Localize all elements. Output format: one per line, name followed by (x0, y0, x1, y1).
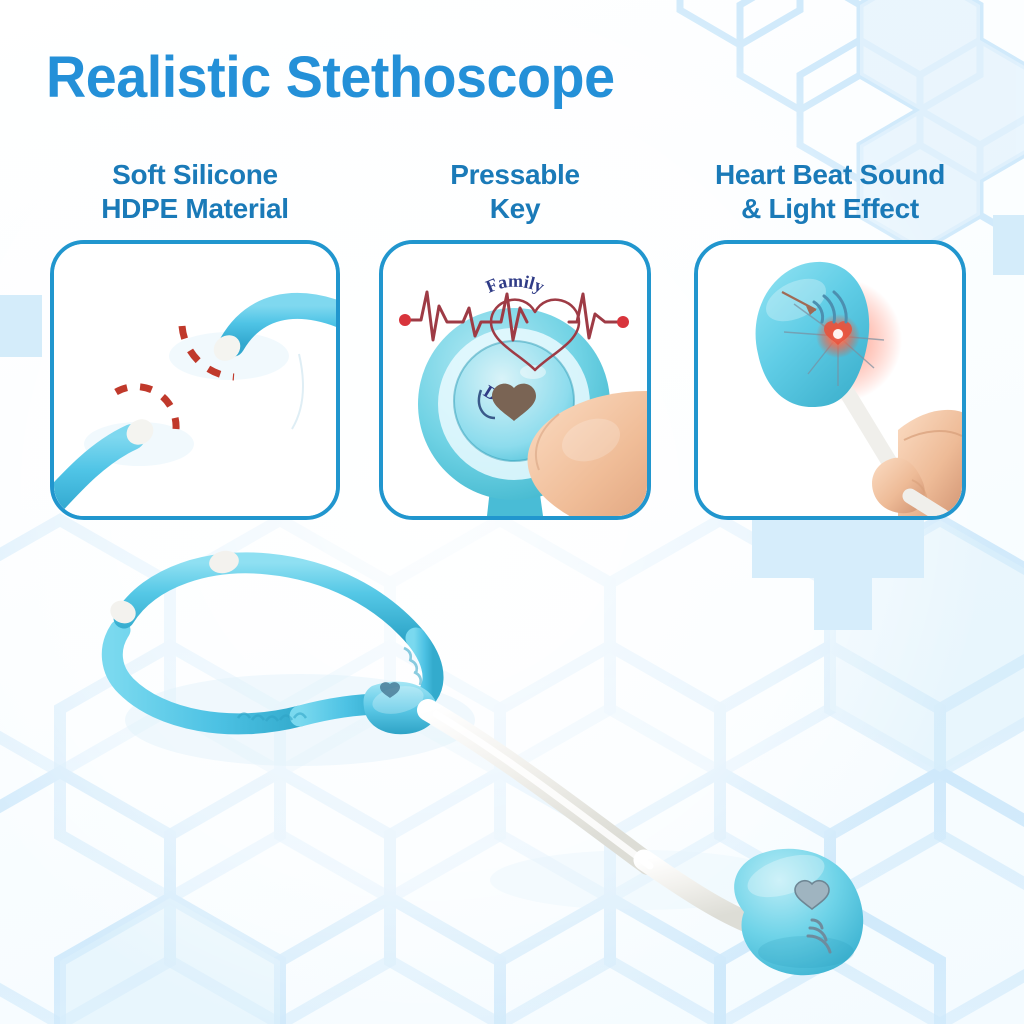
page-title: Realistic Stethoscope (46, 44, 615, 111)
feature-caption-pressable-key: Pressable Key (360, 158, 670, 226)
infographic-page: Realistic Stethoscope Soft Silicone HDPE… (0, 0, 1024, 1024)
caption-line: HDPE Material (40, 192, 350, 226)
headset-top-arch (124, 563, 416, 638)
caption-line: & Light Effect (675, 192, 985, 226)
feature-caption-soft-silicone: Soft Silicone HDPE Material (40, 158, 350, 226)
silicone-tubes-illustration (54, 244, 336, 516)
feature-pressable-key: Pressable Key (360, 158, 670, 520)
caption-line: Heart Beat Sound (675, 158, 985, 192)
led-core (833, 329, 843, 339)
feature-soft-silicone: Soft Silicone HDPE Material (40, 158, 350, 520)
ecg-dot-right (617, 316, 629, 328)
panel-soft-silicone[interactable] (50, 240, 340, 520)
feature-caption-heartbeat-light: Heart Beat Sound & Light Effect (675, 158, 985, 226)
caption-line: Key (360, 192, 670, 226)
accent-block-left (0, 295, 42, 357)
panel-heartbeat-light[interactable] (694, 240, 966, 520)
stethoscope-product-svg (0, 520, 1024, 1024)
caption-line: Soft Silicone (40, 158, 350, 192)
hero-product-photo (0, 520, 1024, 1024)
panel-pressable-key[interactable]: Family Doctor (379, 240, 651, 520)
caption-line: Pressable (360, 158, 670, 192)
heartbeat-light-illustration (698, 244, 962, 516)
accent-block-right (993, 215, 1024, 275)
chestpiece-head (734, 847, 863, 976)
ecg-dot-left (399, 314, 411, 326)
pressable-key-illustration: Family Doctor (383, 244, 647, 516)
feature-heartbeat-light: Heart Beat Sound & Light Effect (675, 158, 985, 520)
tubing-highlight (436, 714, 650, 866)
